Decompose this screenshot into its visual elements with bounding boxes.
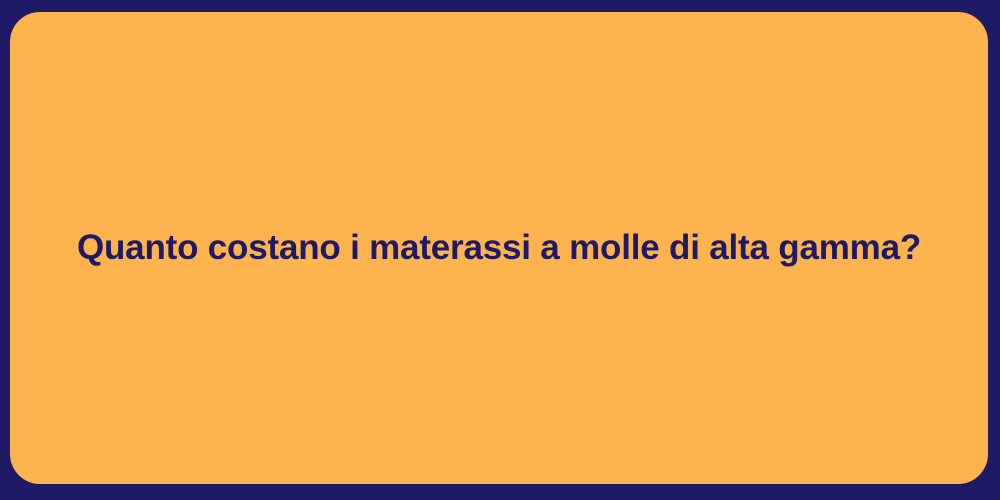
banner-card: Quanto costano i materassi a molle di al…: [10, 12, 988, 484]
banner-canvas: Quanto costano i materassi a molle di al…: [0, 0, 1000, 500]
headline-text: Quanto costano i materassi a molle di al…: [37, 227, 961, 269]
